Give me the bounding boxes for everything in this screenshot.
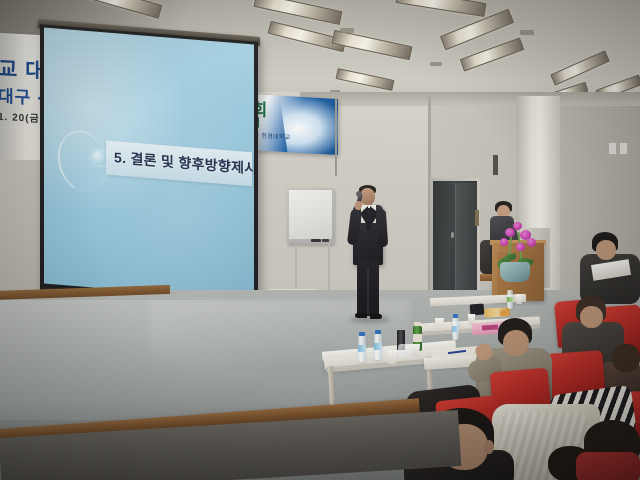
whiteboard-marker[interactable]	[311, 239, 321, 242]
left-wall-strip	[0, 160, 44, 310]
attendee-head	[612, 344, 640, 372]
light-switch[interactable]	[619, 142, 628, 155]
banner-left-line2: 대구 ·	[0, 85, 44, 111]
door-hinge	[475, 210, 479, 226]
bottle-cap	[359, 332, 365, 336]
snack-item	[500, 310, 507, 316]
banner-support-pole	[335, 98, 337, 176]
banner-swoosh-graphic	[279, 93, 338, 155]
bottle-label	[507, 297, 513, 302]
banner-left-line1: 교 대	[0, 55, 44, 87]
orchid-flower	[505, 228, 515, 237]
bottle-cap	[453, 314, 458, 318]
wall-soffit	[300, 92, 640, 106]
orchid-flower	[500, 238, 508, 246]
slide-bullet-dot-icon	[92, 149, 107, 165]
banner-left-line3: 1. 20(금) 1	[0, 109, 44, 129]
ceiling-vent-icon	[520, 30, 534, 35]
bottle-label	[452, 326, 459, 332]
dark-object-on-table[interactable]	[470, 304, 485, 316]
banner-left: 교 대 대구 · 1. 20(금) 1	[0, 33, 44, 167]
attendee-ear	[484, 440, 494, 454]
photo-scene: 교 대 대구 · 1. 20(금) 1 표회 표회 대학교 한경대학교 5. 결…	[0, 0, 640, 480]
orchid-pot	[500, 262, 530, 282]
speaker-shoe	[370, 314, 382, 319]
attendee-head	[503, 330, 529, 356]
bottle-cap	[375, 330, 381, 334]
ceiling-vent-icon	[430, 62, 442, 66]
bottle-label	[374, 343, 382, 350]
speaker-shoe	[355, 313, 367, 318]
attendee-head	[596, 240, 616, 260]
orchid-flower	[527, 238, 536, 247]
whiteboard-marker[interactable]	[322, 239, 329, 242]
bottle-label	[358, 345, 366, 352]
light-switch[interactable]	[608, 142, 617, 155]
attendee-head	[580, 306, 603, 328]
wall-fixture	[493, 155, 498, 175]
door-panel[interactable]	[455, 183, 477, 296]
projection-screen[interactable]: 5. 결론 및 향후방향제시	[40, 24, 258, 310]
bottle-label	[413, 334, 422, 342]
door-handle[interactable]	[451, 232, 454, 238]
attendee-body	[576, 452, 640, 480]
orchid-flower	[513, 222, 522, 230]
screen-surface: 5. 결론 및 향후방향제시	[44, 28, 254, 301]
microphone-head-icon	[356, 191, 362, 197]
bottle-cap	[414, 322, 421, 326]
whiteboard-surface[interactable]	[289, 190, 332, 239]
orchid-flower	[516, 243, 525, 251]
ceiling-vent-icon	[340, 28, 354, 33]
speaker-leg-divide	[367, 268, 369, 314]
